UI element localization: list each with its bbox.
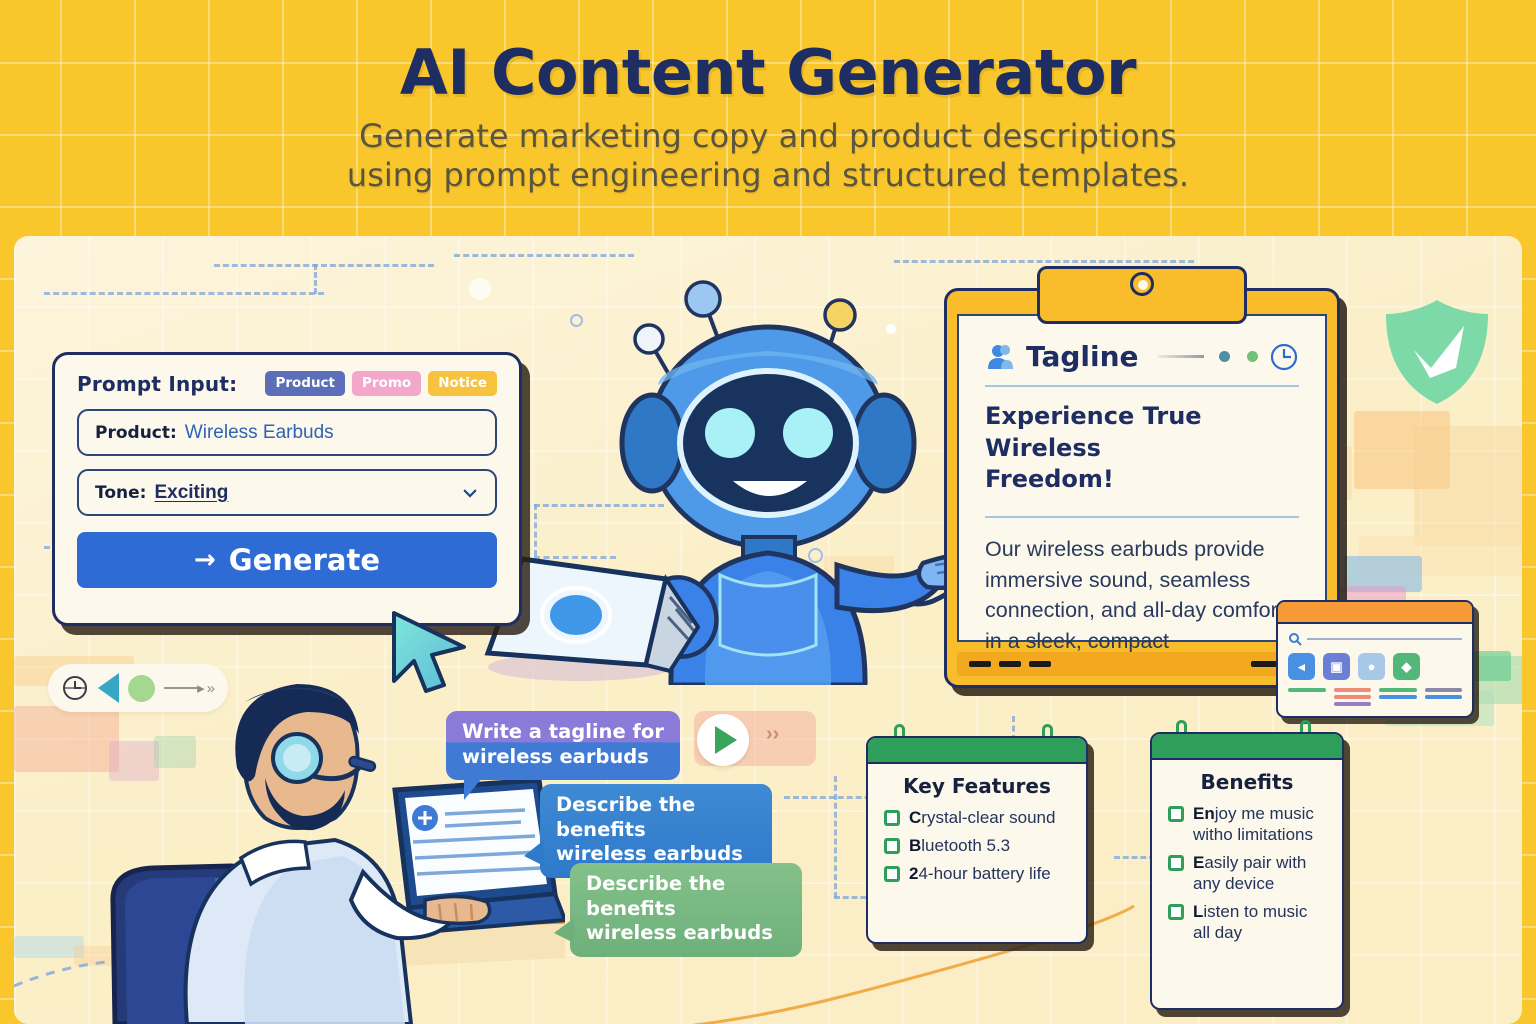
megaphone-icon[interactable]: ◂ <box>1288 653 1315 680</box>
list-item[interactable]: Listen to music all day <box>1168 901 1326 943</box>
mini-col <box>1379 688 1417 706</box>
key-features-card: Key Features Crystal-clear sound Bluetoo… <box>866 736 1088 944</box>
bubble-tail <box>464 778 482 800</box>
chip-product[interactable]: Product <box>265 371 345 396</box>
page-subtitle: Generate marketing copy and product desc… <box>347 117 1189 195</box>
speech-bubble-tagline[interactable]: Write a tagline for wireless earbuds <box>446 711 680 780</box>
bubble-tail <box>524 840 544 866</box>
benefits-titlebar <box>1152 734 1342 760</box>
status-dot-green <box>1247 351 1258 362</box>
shield-check-icon <box>1378 296 1496 408</box>
bubble-line-2: wireless earbuds <box>462 745 664 770</box>
status-dot-teal <box>1219 351 1230 362</box>
circuit-dot <box>469 278 491 300</box>
document-icon[interactable]: ▣ <box>1323 653 1350 680</box>
circuit-line <box>214 264 434 267</box>
mini-line <box>1334 695 1372 699</box>
play-triangle-icon[interactable] <box>98 673 119 703</box>
speech-bubble-benefits-green[interactable]: Describe the benefits wireless earbuds <box>570 863 802 957</box>
bottom-dash <box>1029 661 1051 667</box>
key-features-title: Key Features <box>884 774 1070 798</box>
clipboard-paper: Tagline Experience True Wireless Freedom… <box>957 314 1327 642</box>
mini-line <box>1425 688 1463 692</box>
toolbar-chevrons: » <box>207 680 215 697</box>
template-library-panel: ◂ ▣ ● ◆ <box>1276 600 1474 718</box>
headline-line-2: Freedom! <box>985 464 1299 496</box>
benefits-body: Benefits Enjoy me music witho limitation… <box>1152 760 1342 962</box>
key-features-frame: Key Features Crystal-clear sound Bluetoo… <box>866 736 1088 944</box>
chip-notice[interactable]: Notice <box>428 371 497 396</box>
arrow-right-icon: → <box>194 545 216 575</box>
generate-button[interactable]: → Generate <box>77 532 497 588</box>
benefits-card: Benefits Enjoy me music witho limitation… <box>1150 732 1344 1010</box>
generate-button-label: Generate <box>229 543 380 577</box>
mini-panel-body: ◂ ▣ ● ◆ <box>1278 624 1472 714</box>
person-icon <box>985 342 1015 372</box>
circuit-line <box>44 292 324 295</box>
headline-line-1: Experience True Wireless <box>985 401 1299 464</box>
play-button[interactable] <box>697 714 749 766</box>
mini-line <box>1379 688 1417 692</box>
template-chips: Product Promo Notice <box>265 371 497 396</box>
benefits-frame: Benefits Enjoy me music witho limitation… <box>1150 732 1344 1010</box>
mouse-cursor <box>388 607 480 693</box>
screenshot-stage: AI Content Generator Generate marketing … <box>0 0 1536 1024</box>
key-features-titlebar <box>868 738 1086 764</box>
tone-field-value: Exciting <box>154 482 228 504</box>
clipboard-bottom-bar <box>957 652 1327 676</box>
bubble-line-1: Describe the benefits <box>586 872 786 921</box>
list-item-label: 24-hour battery life <box>909 863 1051 884</box>
tone-field-label: Tone: <box>95 483 146 503</box>
checkbox-icon[interactable] <box>1168 904 1184 920</box>
prompt-input-panel: Prompt Input: Product Promo Notice Produ… <box>52 352 522 626</box>
divider <box>985 516 1299 518</box>
checkbox-icon[interactable] <box>884 810 900 826</box>
arrow-right-icon: ▸ » <box>164 679 215 697</box>
play-chevrons: ›› <box>766 723 779 746</box>
checkbox-icon[interactable] <box>1168 855 1184 871</box>
list-item[interactable]: Bluetooth 5.3 <box>884 835 1070 856</box>
play-icon <box>715 726 737 754</box>
mini-line <box>1334 702 1372 706</box>
key-features-body: Key Features Crystal-clear sound Bluetoo… <box>868 764 1086 903</box>
benefits-title: Benefits <box>1168 770 1326 794</box>
product-field-label: Product: <box>95 423 177 443</box>
circuit-line <box>454 254 634 257</box>
bubble-line-2: wireless earbuds <box>586 921 786 946</box>
list-item-label: Listen to music all day <box>1193 901 1326 943</box>
mini-line <box>1425 695 1463 699</box>
mini-line <box>1288 688 1326 692</box>
bubble-line-1: Write a tagline for <box>462 720 664 745</box>
tag-icon[interactable]: ◆ <box>1393 653 1420 680</box>
chevron-down-icon[interactable] <box>461 484 479 502</box>
bubble-tail <box>554 918 574 943</box>
droplet-icon[interactable]: ● <box>1358 653 1385 680</box>
page-title: AI Content Generator <box>400 36 1136 109</box>
tagline-card-title: Tagline <box>1026 340 1139 373</box>
page-header: AI Content Generator Generate marketing … <box>0 0 1536 236</box>
subtitle-line-1: Generate marketing copy and product desc… <box>359 117 1177 155</box>
product-input-field[interactable]: Product: Wireless Earbuds <box>77 409 497 456</box>
bottom-dash <box>999 661 1021 667</box>
mini-line <box>1379 695 1417 699</box>
bottom-dash <box>969 661 991 667</box>
clipboard-hole <box>1130 272 1154 296</box>
mini-toolbar[interactable]: ▸ » <box>48 664 228 712</box>
mini-search-row[interactable] <box>1288 632 1462 646</box>
checkbox-icon[interactable] <box>884 866 900 882</box>
mini-col <box>1425 688 1463 706</box>
checkbox-icon[interactable] <box>884 838 900 854</box>
list-item-label: Bluetooth 5.3 <box>909 835 1010 856</box>
mini-panel-titlebar <box>1278 602 1472 624</box>
list-item[interactable]: Easily pair with any device <box>1168 852 1326 894</box>
mini-tile-row: ◂ ▣ ● ◆ <box>1288 653 1462 680</box>
circuit-line <box>314 264 317 294</box>
prompt-panel-header: Prompt Input: Product Promo Notice <box>77 371 497 396</box>
subtitle-line-2: using prompt engineering and structured … <box>347 156 1189 195</box>
list-item-label: Easily pair with any device <box>1193 852 1326 894</box>
tagline-headline: Experience True Wireless Freedom! <box>985 401 1299 496</box>
list-item[interactable]: Enjoy me music witho limitations <box>1168 803 1326 845</box>
tagline-header: Tagline <box>985 340 1299 373</box>
mini-panel-frame: ◂ ▣ ● ◆ <box>1276 600 1474 718</box>
search-icon <box>1288 632 1302 646</box>
bubble-line-1: Describe the benefits <box>556 793 756 842</box>
mini-col <box>1288 688 1326 706</box>
mini-line <box>1334 688 1372 692</box>
list-item-label: Enjoy me music witho limitations <box>1193 803 1326 845</box>
prompt-panel-title: Prompt Input: <box>77 372 237 396</box>
tagline-body-text: Our wireless earbuds provide immersive s… <box>985 534 1299 656</box>
divider <box>985 385 1299 387</box>
tagline-card-content: Tagline Experience True Wireless Freedom… <box>959 316 1325 640</box>
header-divider-line <box>1158 355 1204 358</box>
tone-select-field[interactable]: Tone: Exciting <box>77 469 497 516</box>
list-item[interactable]: Crystal-clear sound <box>884 807 1070 828</box>
clock-arrow-icon[interactable] <box>61 674 89 702</box>
deco-block <box>1414 426 1522 546</box>
mini-col <box>1334 688 1372 706</box>
chip-promo[interactable]: Promo <box>352 371 421 396</box>
clock-icon <box>1269 342 1299 372</box>
mini-line-rows <box>1288 688 1462 706</box>
list-item-label: Crystal-clear sound <box>909 807 1055 828</box>
mini-search-line <box>1307 638 1462 640</box>
green-circle-icon[interactable] <box>128 675 155 702</box>
checkbox-icon[interactable] <box>1168 806 1184 822</box>
circuit-line <box>894 260 1194 263</box>
list-item[interactable]: 24-hour battery life <box>884 863 1070 884</box>
product-field-value: Wireless Earbuds <box>185 422 334 444</box>
